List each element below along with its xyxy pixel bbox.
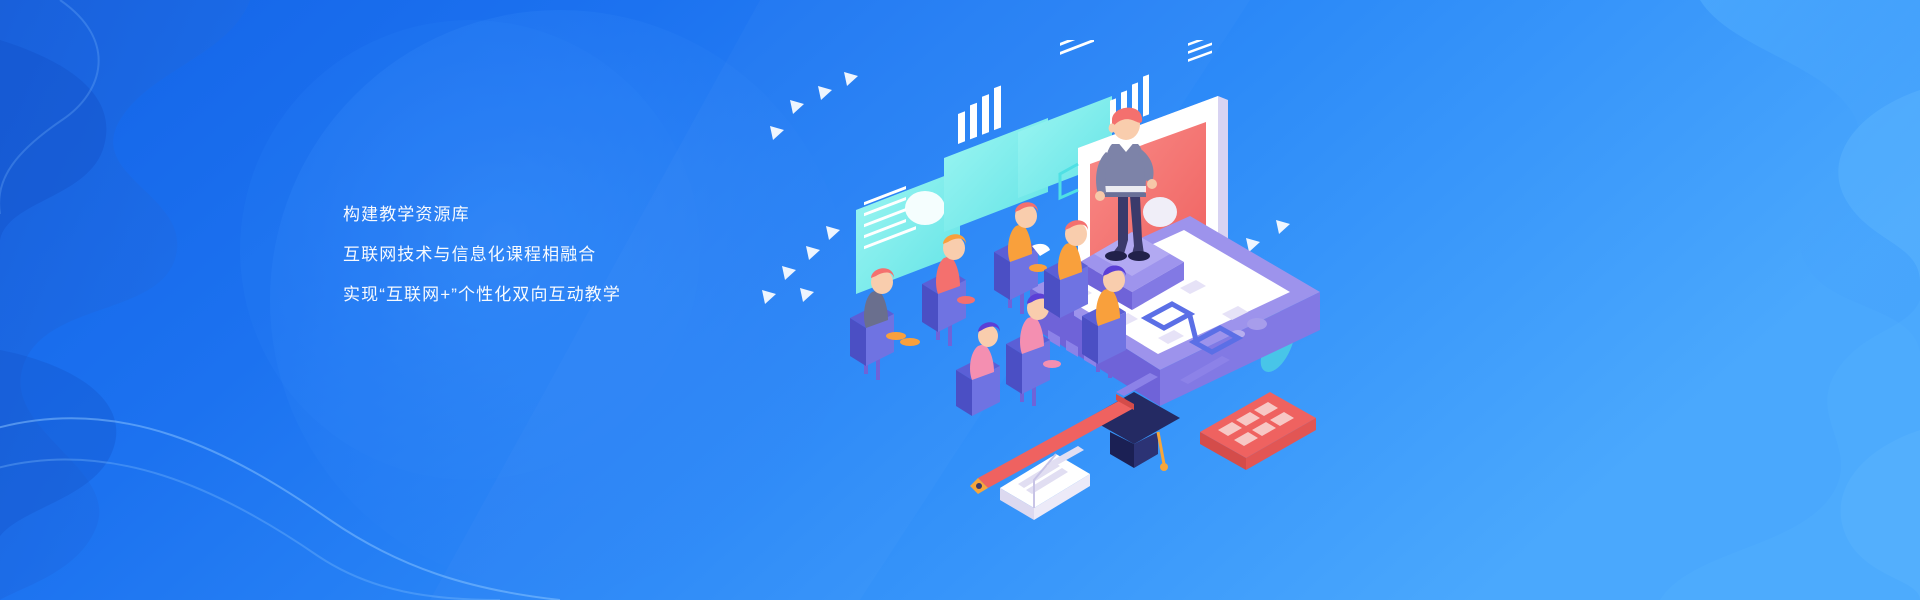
open-book [1000, 446, 1090, 520]
calculator [1200, 392, 1316, 470]
subtitle-line-1: 构建教学资源库 [343, 206, 470, 223]
subtitle-line-2: 互联网技术与信息化课程相融合 [343, 246, 596, 263]
subtitle-line-3: 实现“互联网+”个性化双向互动教学 [343, 286, 621, 303]
student-7 [956, 322, 1000, 416]
graduation-cap [1088, 392, 1180, 471]
isometric-classroom-illustration [760, 40, 1320, 560]
hero-banner: 在线开放课程建设 构建教学资源库 互联网技术与信息化课程相融合 实现“互联网+”… [0, 0, 1920, 600]
